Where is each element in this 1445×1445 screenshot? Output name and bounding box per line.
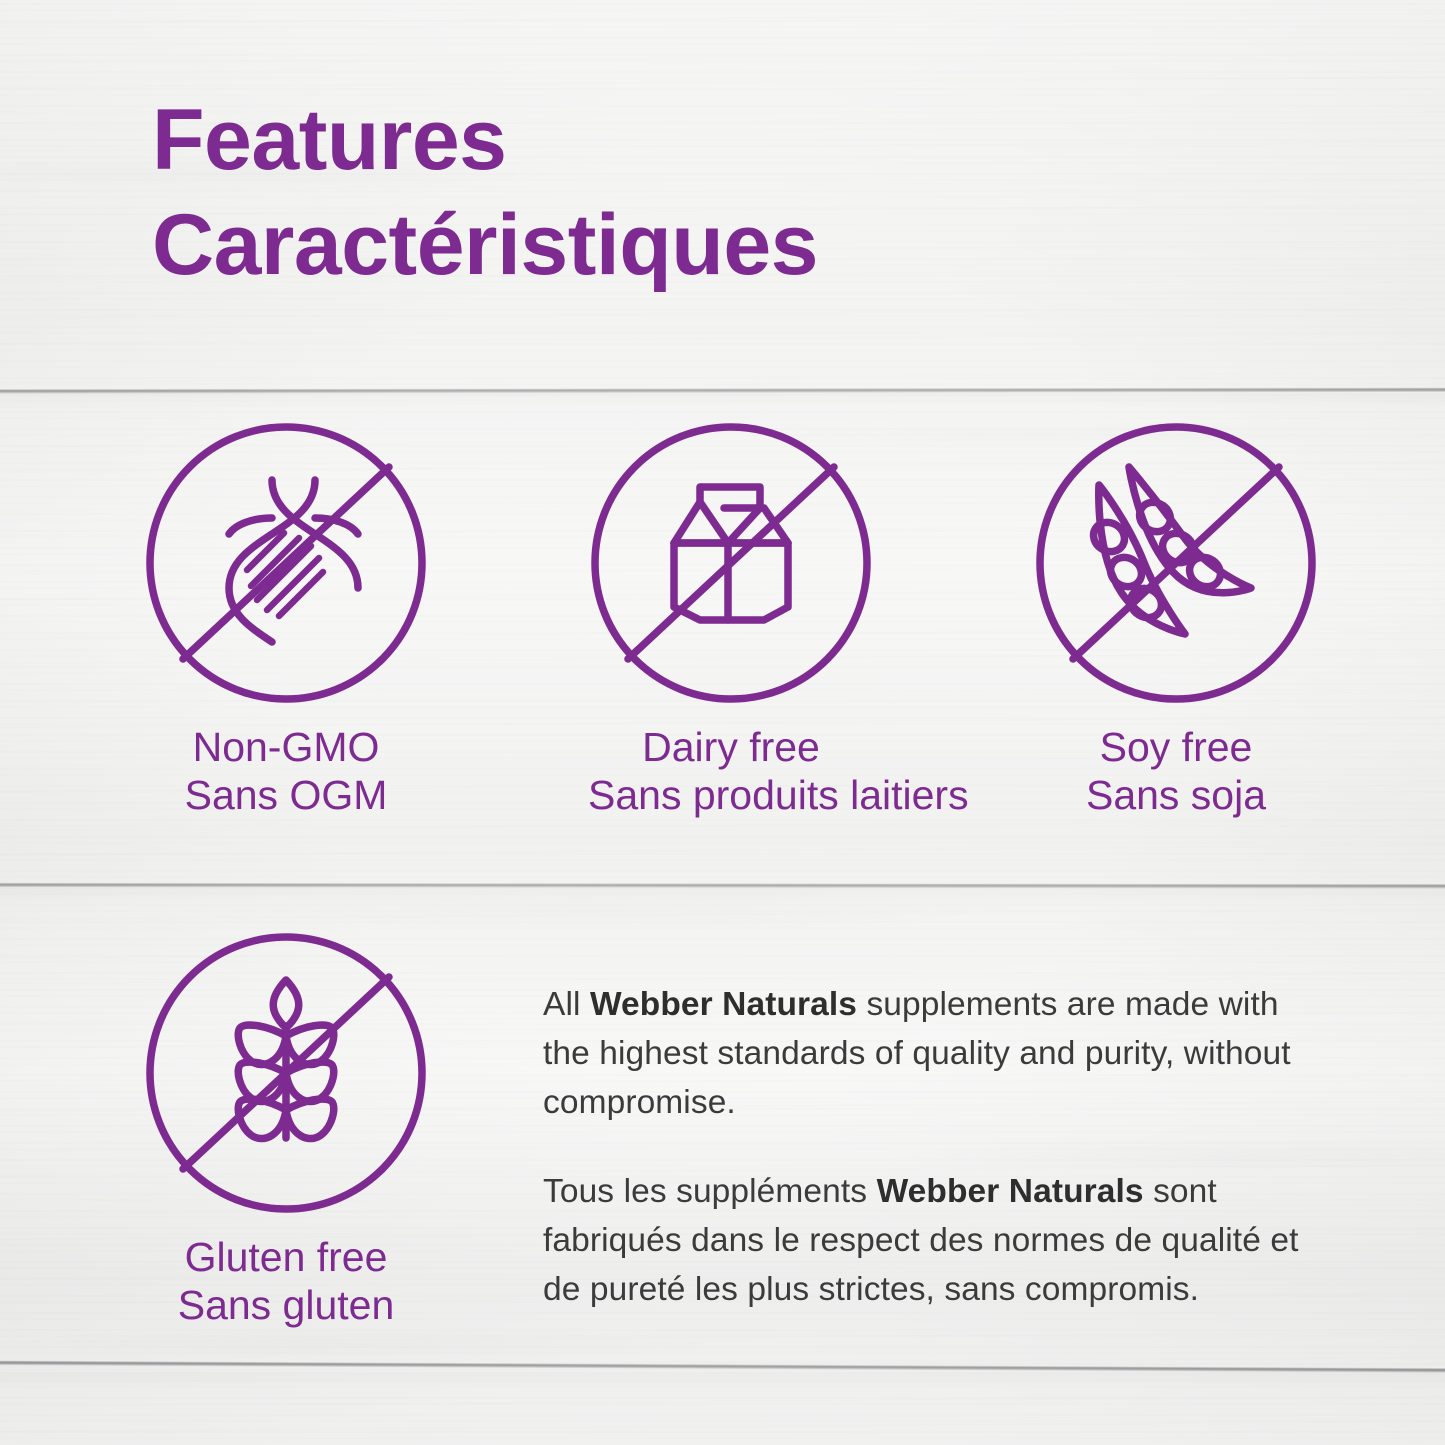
paragraph-french-lead: Tous les suppléments: [543, 1173, 877, 1210]
feature-soy-free-label-fr: Sans soja: [1033, 772, 1319, 820]
feature-dairy-free-label-en: Dairy free: [588, 724, 874, 772]
body-copy: All Webber Naturals supplements are made…: [543, 981, 1318, 1314]
feature-panel: Features Caractéristiques: [0, 0, 1445, 1445]
milk-carton-no-symbol-icon: [588, 420, 874, 706]
feature-soy-free: Soy free Sans soja: [1033, 420, 1319, 819]
feature-dairy-free-caption: Dairy free Sans produits laitiers: [588, 724, 874, 819]
brand-name-english: Webber Naturals: [590, 986, 857, 1023]
paragraph-english-lead: All: [543, 986, 590, 1023]
feature-non-gmo-caption: Non-GMO Sans OGM: [143, 724, 429, 819]
feature-non-gmo-label-fr: Sans OGM: [143, 772, 429, 820]
feature-gluten-free: Gluten free Sans gluten: [143, 930, 429, 1329]
page-title: Features Caractéristiques: [152, 96, 1302, 291]
feature-gluten-free-caption: Gluten free Sans gluten: [143, 1234, 429, 1329]
feature-gluten-free-label-en: Gluten free: [143, 1234, 429, 1282]
page-title-english: Features: [152, 96, 1302, 185]
paragraph-french: Tous les suppléments Webber Naturals son…: [543, 1168, 1318, 1315]
feature-gluten-free-label-fr: Sans gluten: [143, 1282, 429, 1330]
dna-no-symbol-icon: [143, 420, 429, 706]
feature-dairy-free-label-fr: Sans produits laitiers: [588, 772, 874, 820]
wheat-stalk-no-symbol-icon: [143, 930, 429, 1216]
soybean-pods-no-symbol-icon: [1033, 420, 1319, 706]
feature-soy-free-label-en: Soy free: [1033, 724, 1319, 772]
brand-name-french: Webber Naturals: [877, 1173, 1144, 1210]
feature-dairy-free: Dairy free Sans produits laitiers: [588, 420, 874, 819]
feature-non-gmo-label-en: Non-GMO: [143, 724, 429, 772]
page-title-french: Caractéristiques: [152, 201, 1302, 290]
feature-non-gmo: Non-GMO Sans OGM: [143, 420, 429, 819]
feature-soy-free-caption: Soy free Sans soja: [1033, 724, 1319, 819]
paragraph-english: All Webber Naturals supplements are made…: [543, 981, 1318, 1128]
